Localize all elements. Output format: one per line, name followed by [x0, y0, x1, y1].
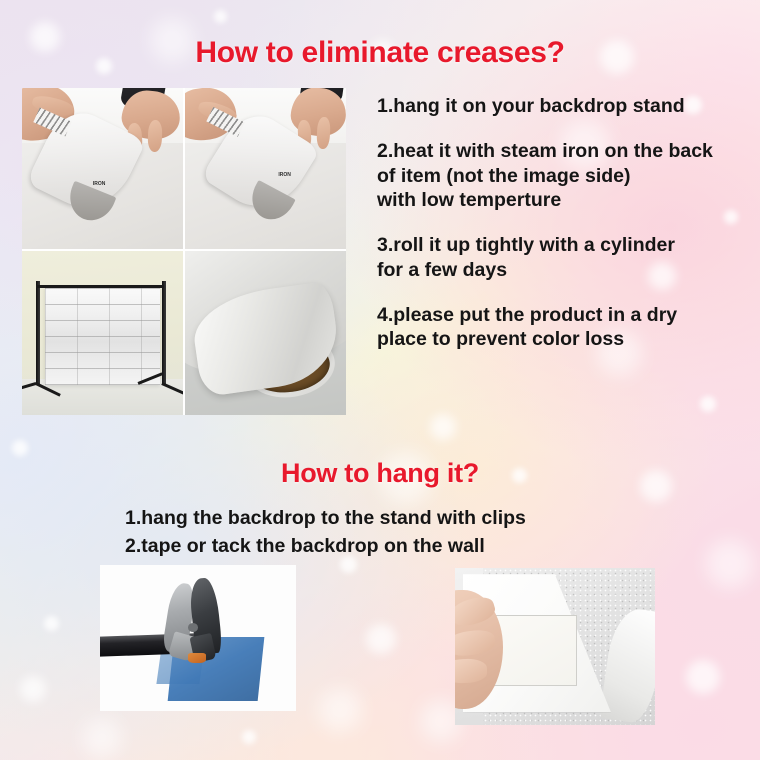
hang-steps-list: 1.hang the backdrop to the stand with cl…: [125, 505, 745, 560]
crease-step-3-line-2: for a few days: [377, 258, 755, 283]
crease-steps-list: 1.hang it on your backdrop stand 2.heat …: [377, 94, 755, 372]
photo-spring-clamp-clip: [100, 565, 296, 711]
crease-step-2: 2.heat it with steam iron on the back of…: [377, 139, 755, 213]
crease-step-1-line-1: 1.hang it on your backdrop stand: [377, 94, 755, 119]
crease-step-4-line-2: place to prevent color loss: [377, 327, 755, 352]
photo-backdrop-on-stand: [22, 251, 183, 415]
hang-step-2: 2.tape or tack the backdrop on the wall: [125, 533, 745, 561]
photo-adhesive-tape-peel: [455, 568, 655, 725]
crease-photo-collage: IRON IRON: [22, 88, 346, 415]
photo-iron-on-backdrop-fabric-right: IRON: [185, 88, 346, 249]
crease-step-1: 1.hang it on your backdrop stand: [377, 94, 755, 119]
photo-rolled-backdrop-cylinder: [185, 251, 346, 415]
page-title-eliminate-creases: How to eliminate creases?: [0, 36, 760, 70]
photo-iron-on-backdrop-fabric-left: IRON: [22, 88, 183, 249]
infographic-page: How to eliminate creases? IRON: [0, 0, 760, 760]
crease-step-2-line-3: with low temperture: [377, 188, 755, 213]
crease-step-3: 3.roll it up tightly with a cylinder for…: [377, 233, 755, 283]
crease-step-2-line-2: of item (not the image side): [377, 164, 755, 189]
crease-step-3-line-1: 3.roll it up tightly with a cylinder: [377, 233, 755, 258]
hang-step-1: 1.hang the backdrop to the stand with cl…: [125, 505, 745, 533]
crease-step-4: 4.please put the product in a dry place …: [377, 303, 755, 353]
crease-step-2-line-1: 2.heat it with steam iron on the back: [377, 139, 755, 164]
crease-step-4-line-1: 4.please put the product in a dry: [377, 303, 755, 328]
section-title-how-to-hang: How to hang it?: [0, 458, 760, 489]
